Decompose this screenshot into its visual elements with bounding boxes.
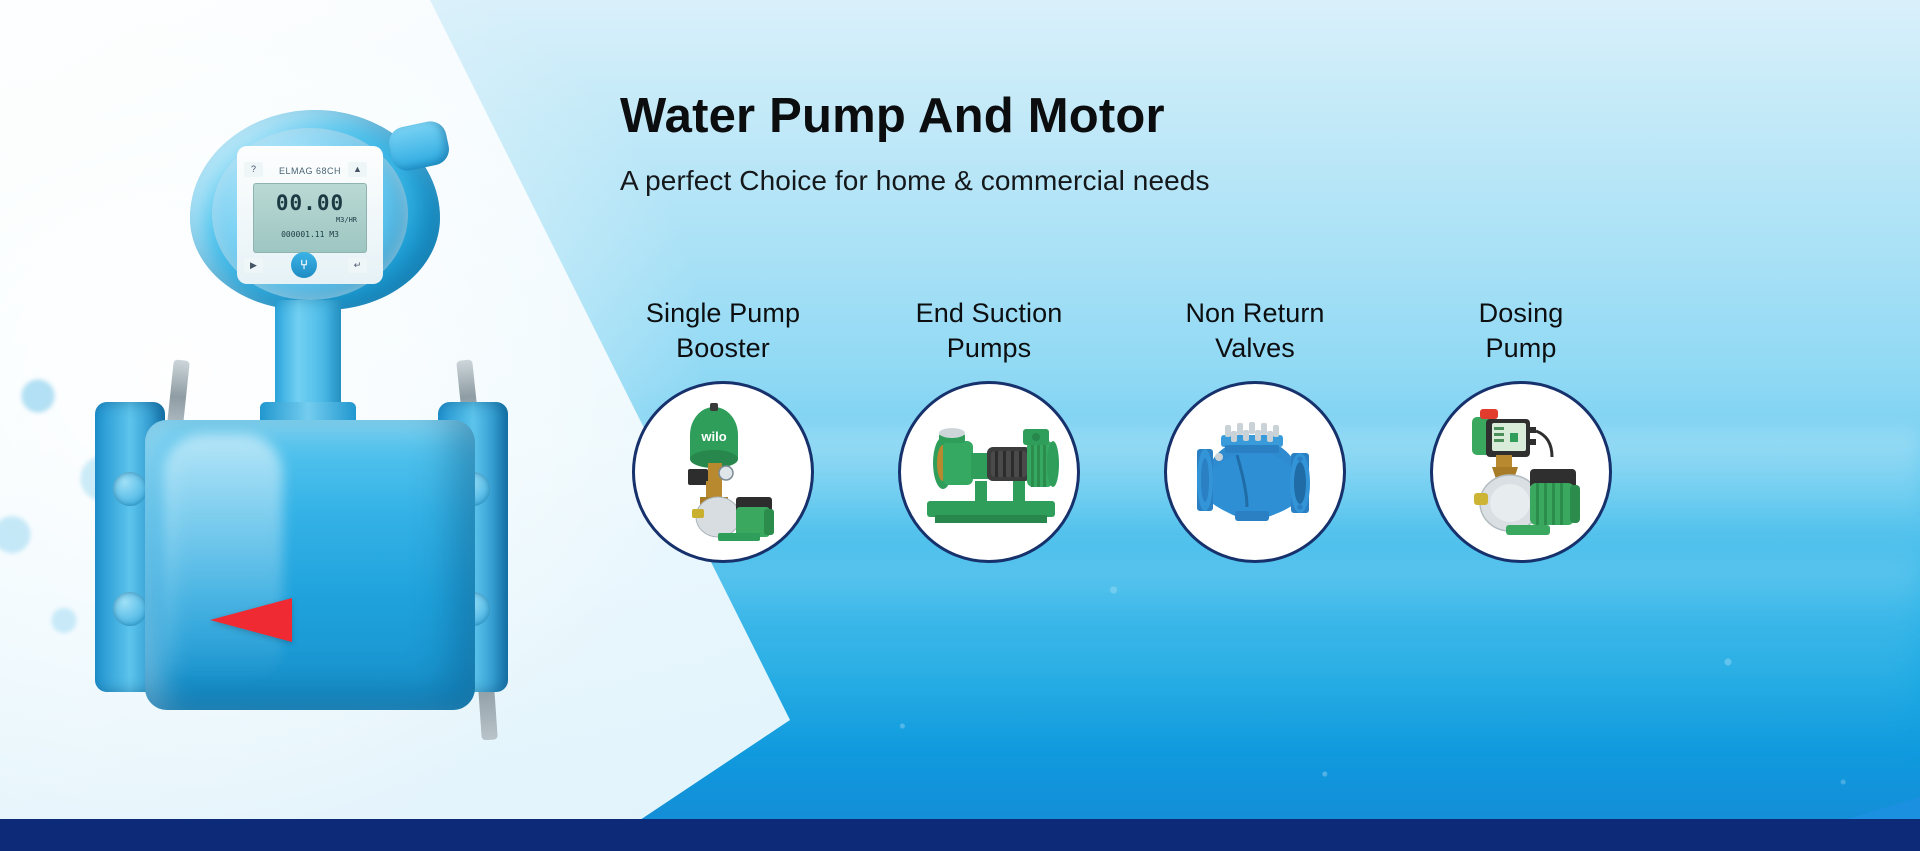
category-label: Single Pump Booster (614, 296, 832, 365)
page-title: Water Pump And Motor (620, 88, 1165, 144)
non-return-valve-illustration (1175, 397, 1335, 547)
product-image-single-pump-booster[interactable]: wilo (632, 381, 814, 563)
category-label: End Suction Pumps (880, 296, 1098, 365)
end-suction-pump-illustration (909, 397, 1069, 547)
flow-direction-arrow-icon (210, 598, 292, 642)
lcd-value: 00.00 (254, 191, 366, 215)
meter-button-enter[interactable]: ↵ (348, 258, 367, 273)
meter-body (145, 420, 475, 710)
meter-button-right[interactable]: ▶ (244, 258, 263, 273)
meter-logo-icon: ⑂ (291, 252, 317, 278)
bottom-bar (0, 819, 1920, 851)
lcd-totalizer: 000001.11 M3 (254, 230, 366, 239)
category-card-single-pump-booster[interactable]: Single Pump Booster wilo (614, 296, 832, 563)
dosing-pump-illustration (1444, 397, 1599, 547)
category-label: Dosing Pump (1412, 296, 1630, 365)
promo-banner: ELMAG 68CH 00.00 M3/HR 000001.11 M3 ? ▲ … (0, 0, 1920, 851)
lcd-unit: M3/HR (336, 216, 357, 224)
category-card-non-return-valves[interactable]: Non Return Valves (1146, 296, 1364, 563)
page-subtitle: A perfect Choice for home & commercial n… (620, 165, 1210, 197)
product-image-end-suction-pump[interactable] (898, 381, 1080, 563)
product-image-non-return-valve[interactable] (1164, 381, 1346, 563)
meter-button-up[interactable]: ▲ (348, 162, 367, 177)
bottom-accent-shape (1800, 797, 1920, 819)
flow-meter-image: ELMAG 68CH 00.00 M3/HR 000001.11 M3 ? ▲ … (60, 110, 620, 810)
single-pump-booster-illustration: wilo (648, 397, 798, 547)
flange-bolt-hole (113, 592, 147, 626)
category-card-dosing-pump[interactable]: Dosing Pump (1412, 296, 1630, 563)
meter-face: ELMAG 68CH 00.00 M3/HR 000001.11 M3 ? ▲ … (212, 128, 408, 300)
category-card-end-suction-pumps[interactable]: End Suction Pumps (880, 296, 1098, 563)
meter-cable-gland (386, 118, 452, 173)
svg-text:wilo: wilo (700, 429, 726, 444)
category-label: Non Return Valves (1146, 296, 1364, 365)
category-card-list: Single Pump Booster wilo (614, 296, 1904, 563)
meter-body-gloss (163, 434, 283, 684)
flange-bolt-hole (113, 472, 147, 506)
meter-lcd-display: 00.00 M3/HR 000001.11 M3 (253, 183, 367, 253)
product-image-dosing-pump[interactable] (1430, 381, 1612, 563)
meter-button-help[interactable]: ? (244, 162, 263, 177)
